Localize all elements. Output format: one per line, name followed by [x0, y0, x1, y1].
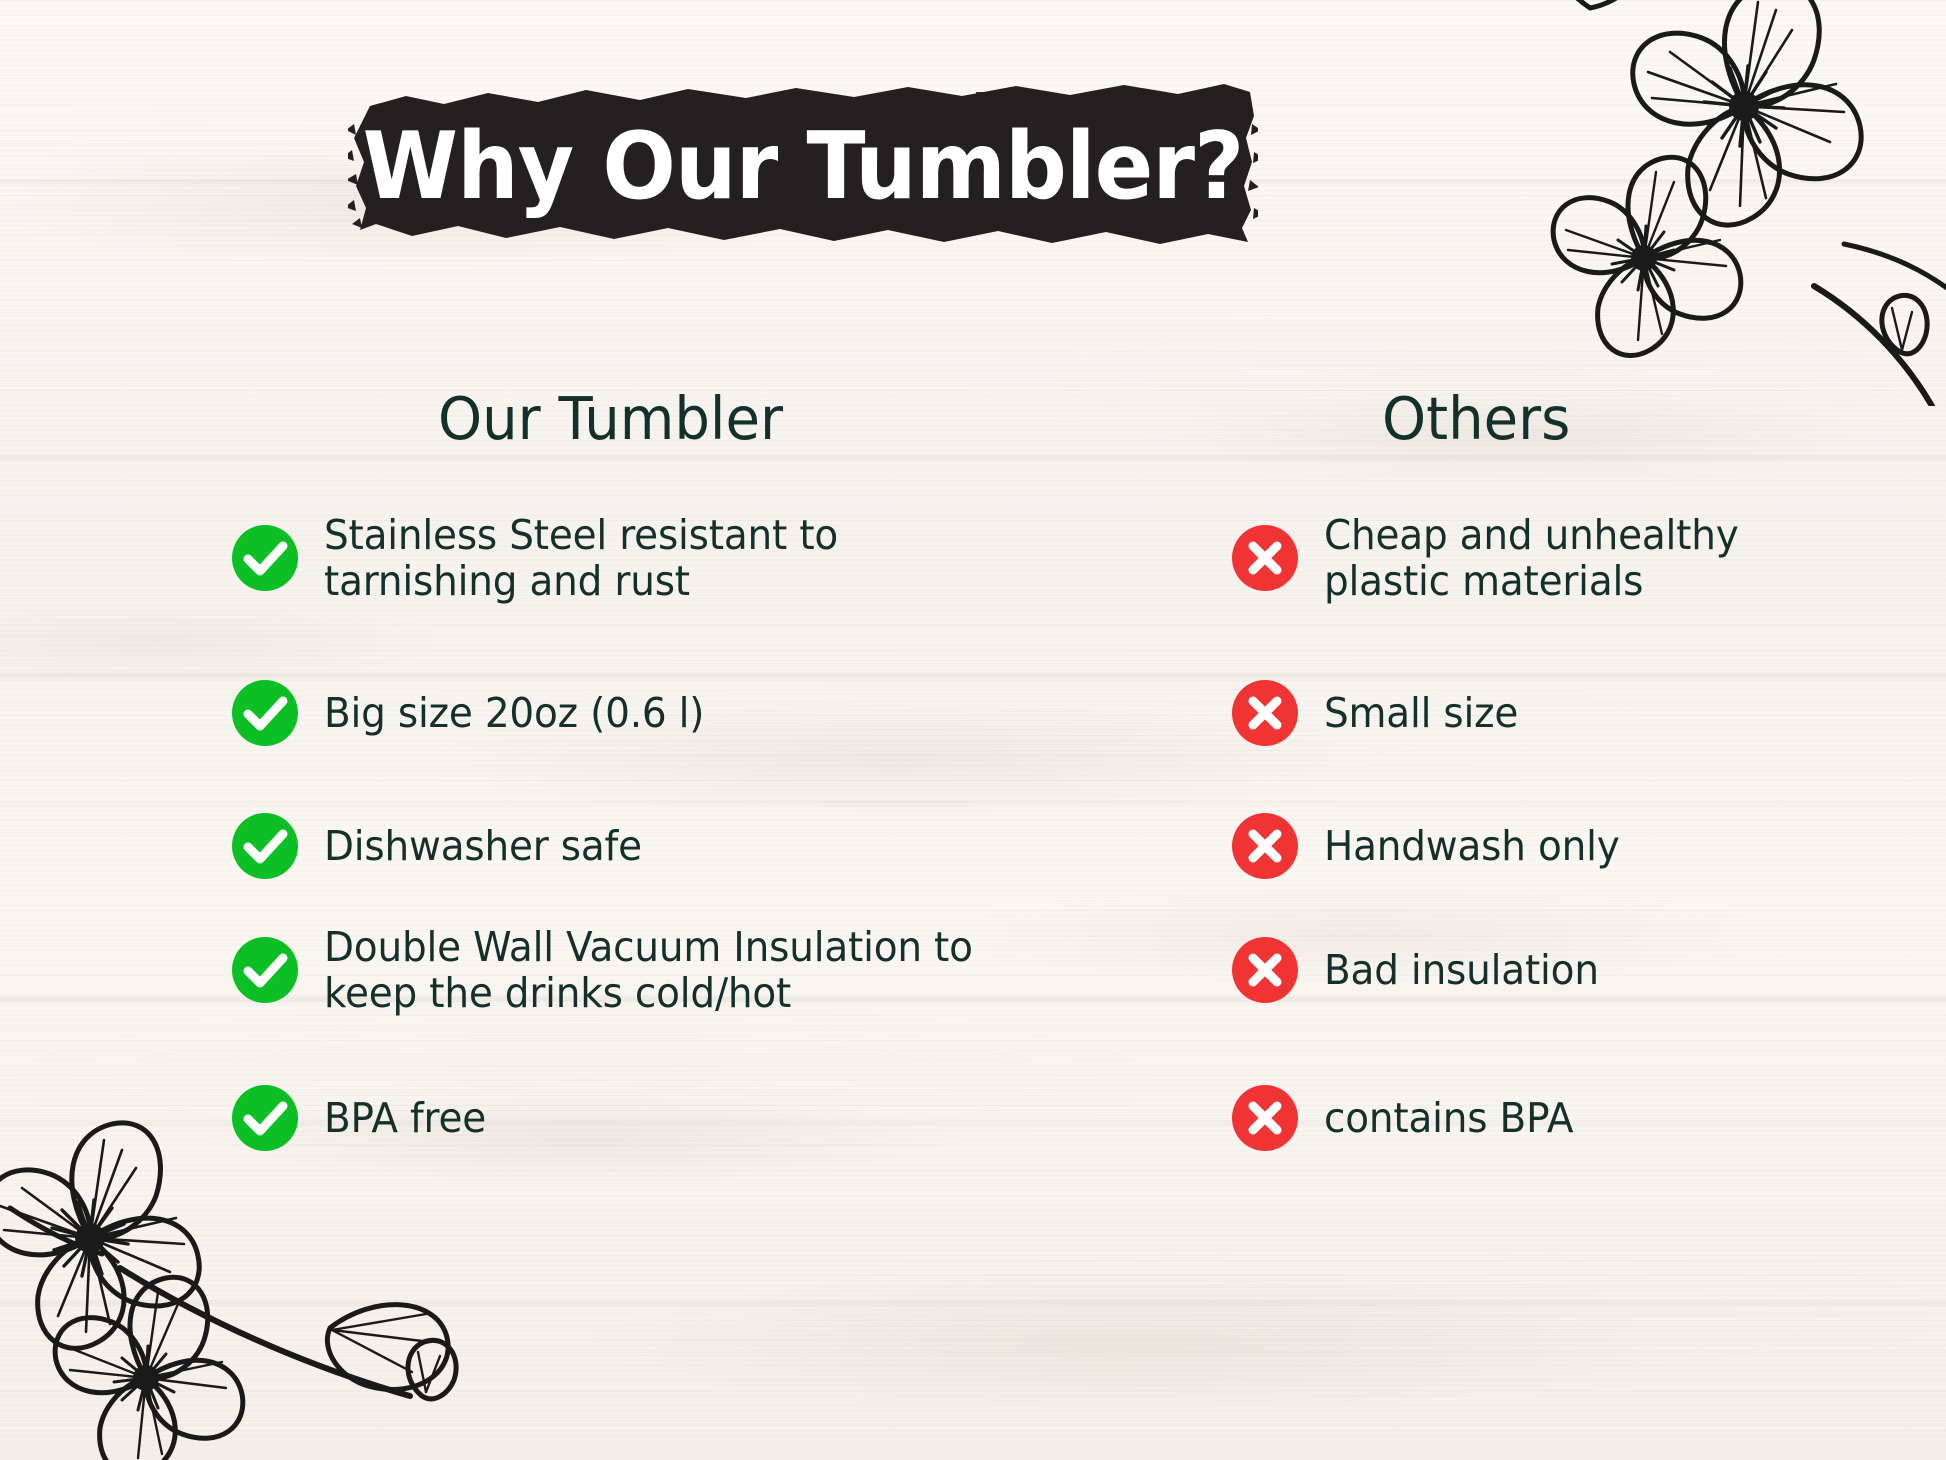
row-others-text: Cheap and unhealthy plastic materials — [1324, 512, 1739, 605]
cross-circle-icon — [1232, 525, 1298, 591]
column-headers: Our Tumbler Others — [0, 384, 1946, 460]
row-others-text: contains BPA — [1324, 1095, 1573, 1141]
row-ours-cell: BPA free — [232, 1058, 1112, 1178]
column-header-others: Others — [1382, 384, 1570, 453]
row-others-cell: Small size — [1232, 653, 1912, 773]
check-circle-icon — [232, 1085, 298, 1151]
row-others-cell: Handwash only — [1232, 786, 1912, 906]
cross-circle-icon — [1232, 937, 1298, 1003]
infographic-canvas: Why Our Tumbler? Our Tumbler Others Stai… — [0, 0, 1946, 1460]
page-title: Why Our Tumbler? — [380, 80, 1226, 252]
table-row: Double Wall Vacuum Insulation to keep th… — [0, 910, 1946, 1030]
row-ours-cell: Big size 20oz (0.6 l) — [232, 653, 1112, 773]
row-others-text: Small size — [1324, 690, 1518, 736]
row-ours-text: Double Wall Vacuum Insulation to keep th… — [324, 924, 973, 1017]
row-ours-cell: Dishwasher safe — [232, 786, 1112, 906]
table-row: BPA free contains BPA — [0, 1058, 1946, 1178]
cross-circle-icon — [1232, 1085, 1298, 1151]
table-row: Stainless Steel resistant to tarnishing … — [0, 498, 1946, 618]
row-ours-text: Big size 20oz (0.6 l) — [324, 690, 704, 736]
title-banner: Why Our Tumbler? — [348, 76, 1258, 248]
check-circle-icon — [232, 525, 298, 591]
table-row: Dishwasher safe Handwash only — [0, 786, 1946, 906]
check-circle-icon — [232, 813, 298, 879]
row-ours-text: Stainless Steel resistant to tarnishing … — [324, 512, 838, 605]
check-circle-icon — [232, 680, 298, 746]
check-circle-icon — [232, 937, 298, 1003]
row-ours-text: BPA free — [324, 1095, 486, 1141]
row-ours-text: Dishwasher safe — [324, 823, 642, 869]
row-others-cell: Cheap and unhealthy plastic materials — [1232, 498, 1912, 618]
table-row: Big size 20oz (0.6 l) Small size — [0, 653, 1946, 773]
cross-circle-icon — [1232, 680, 1298, 746]
row-others-text: Handwash only — [1324, 823, 1620, 869]
row-others-cell: Bad insulation — [1232, 910, 1912, 1030]
row-ours-cell: Double Wall Vacuum Insulation to keep th… — [232, 910, 1112, 1030]
cross-circle-icon — [1232, 813, 1298, 879]
row-ours-cell: Stainless Steel resistant to tarnishing … — [232, 498, 1112, 618]
row-others-text: Bad insulation — [1324, 947, 1599, 993]
column-header-ours: Our Tumbler — [438, 384, 783, 453]
row-others-cell: contains BPA — [1232, 1058, 1912, 1178]
